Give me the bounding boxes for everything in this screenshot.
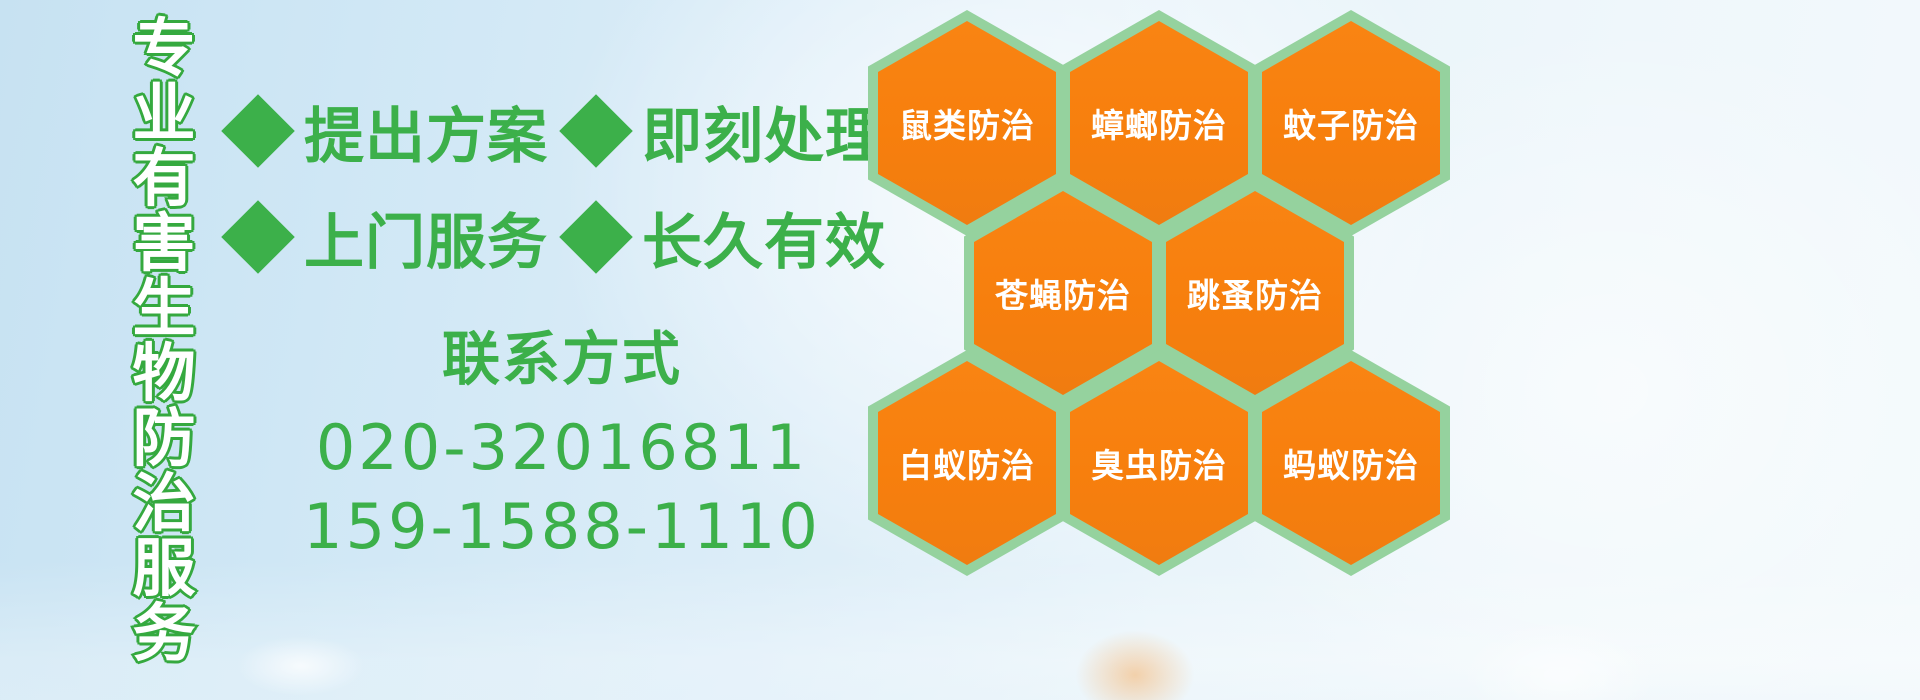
- diamond-icon: [221, 94, 295, 168]
- feature-label: 长久有效: [642, 194, 886, 281]
- vertical-headline-char: 有: [133, 148, 196, 213]
- vertical-headline-char: 务: [133, 603, 196, 668]
- vertical-headline-char: 物: [133, 343, 196, 408]
- feature-label: 上门服务: [304, 194, 548, 281]
- hex-service-bedbug[interactable]: 臭虫防治: [1060, 350, 1258, 576]
- vertical-headline-char: 专: [133, 18, 196, 83]
- feature-label: 即刻处理: [642, 88, 886, 175]
- hex-service-ant[interactable]: 蚂蚁防治: [1252, 350, 1450, 576]
- vertical-headline-char: 害: [133, 213, 196, 278]
- diamond-icon: [559, 200, 633, 274]
- vertical-headline-char: 生: [133, 278, 196, 343]
- vertical-headline-char: 防: [133, 408, 196, 473]
- phone-number-mobile[interactable]: 159-1588-1110: [252, 487, 872, 566]
- hex-label: 蚊子防治: [1252, 99, 1450, 147]
- feature-list: 提出方案 即刻处理 上门服务 长久有效: [232, 78, 872, 290]
- feature-row: 提出方案 即刻处理: [232, 78, 872, 184]
- hex-label: 苍蝇防治: [964, 269, 1162, 317]
- hex-label: 蚂蚁防治: [1252, 439, 1450, 487]
- background-smudge-left: [236, 636, 366, 696]
- hex-label: 臭虫防治: [1060, 439, 1258, 487]
- feature-item-onsite-service: 上门服务: [232, 194, 548, 281]
- service-hexagon-grid: 鼠类防治 蟑螂防治 蚊子防治 苍蝇防治 跳蚤防治 白蚁防治: [862, 0, 1462, 700]
- contact-block: 联系方式 020-32016811 159-1588-1110: [252, 312, 872, 567]
- hex-label: 鼠类防治: [868, 99, 1066, 147]
- pest-control-banner: 专 业 有 害 生 物 防 治 服 务 提出方案 即刻处理 上门服务: [0, 0, 1920, 700]
- feature-row: 上门服务 长久有效: [232, 184, 872, 290]
- hex-label: 跳蚤防治: [1156, 269, 1354, 317]
- contact-heading: 联系方式: [252, 312, 872, 396]
- background-smudge-right: [1460, 620, 1660, 700]
- feature-label: 提出方案: [304, 88, 548, 175]
- diamond-icon: [559, 94, 633, 168]
- vertical-headline: 专 业 有 害 生 物 防 治 服 务: [112, 18, 216, 678]
- feature-item-propose-plan: 提出方案: [232, 88, 548, 175]
- phone-number-landline[interactable]: 020-32016811: [252, 408, 872, 487]
- hex-label: 白蚁防治: [868, 439, 1066, 487]
- hex-label: 蟑螂防治: [1060, 99, 1258, 147]
- diamond-icon: [221, 200, 295, 274]
- feature-item-long-lasting: 长久有效: [570, 194, 886, 281]
- feature-item-immediate-treatment: 即刻处理: [570, 88, 886, 175]
- vertical-headline-char: 服: [133, 538, 196, 603]
- vertical-headline-char: 治: [133, 473, 196, 538]
- vertical-headline-char: 业: [133, 83, 196, 148]
- hex-service-termite[interactable]: 白蚁防治: [868, 350, 1066, 576]
